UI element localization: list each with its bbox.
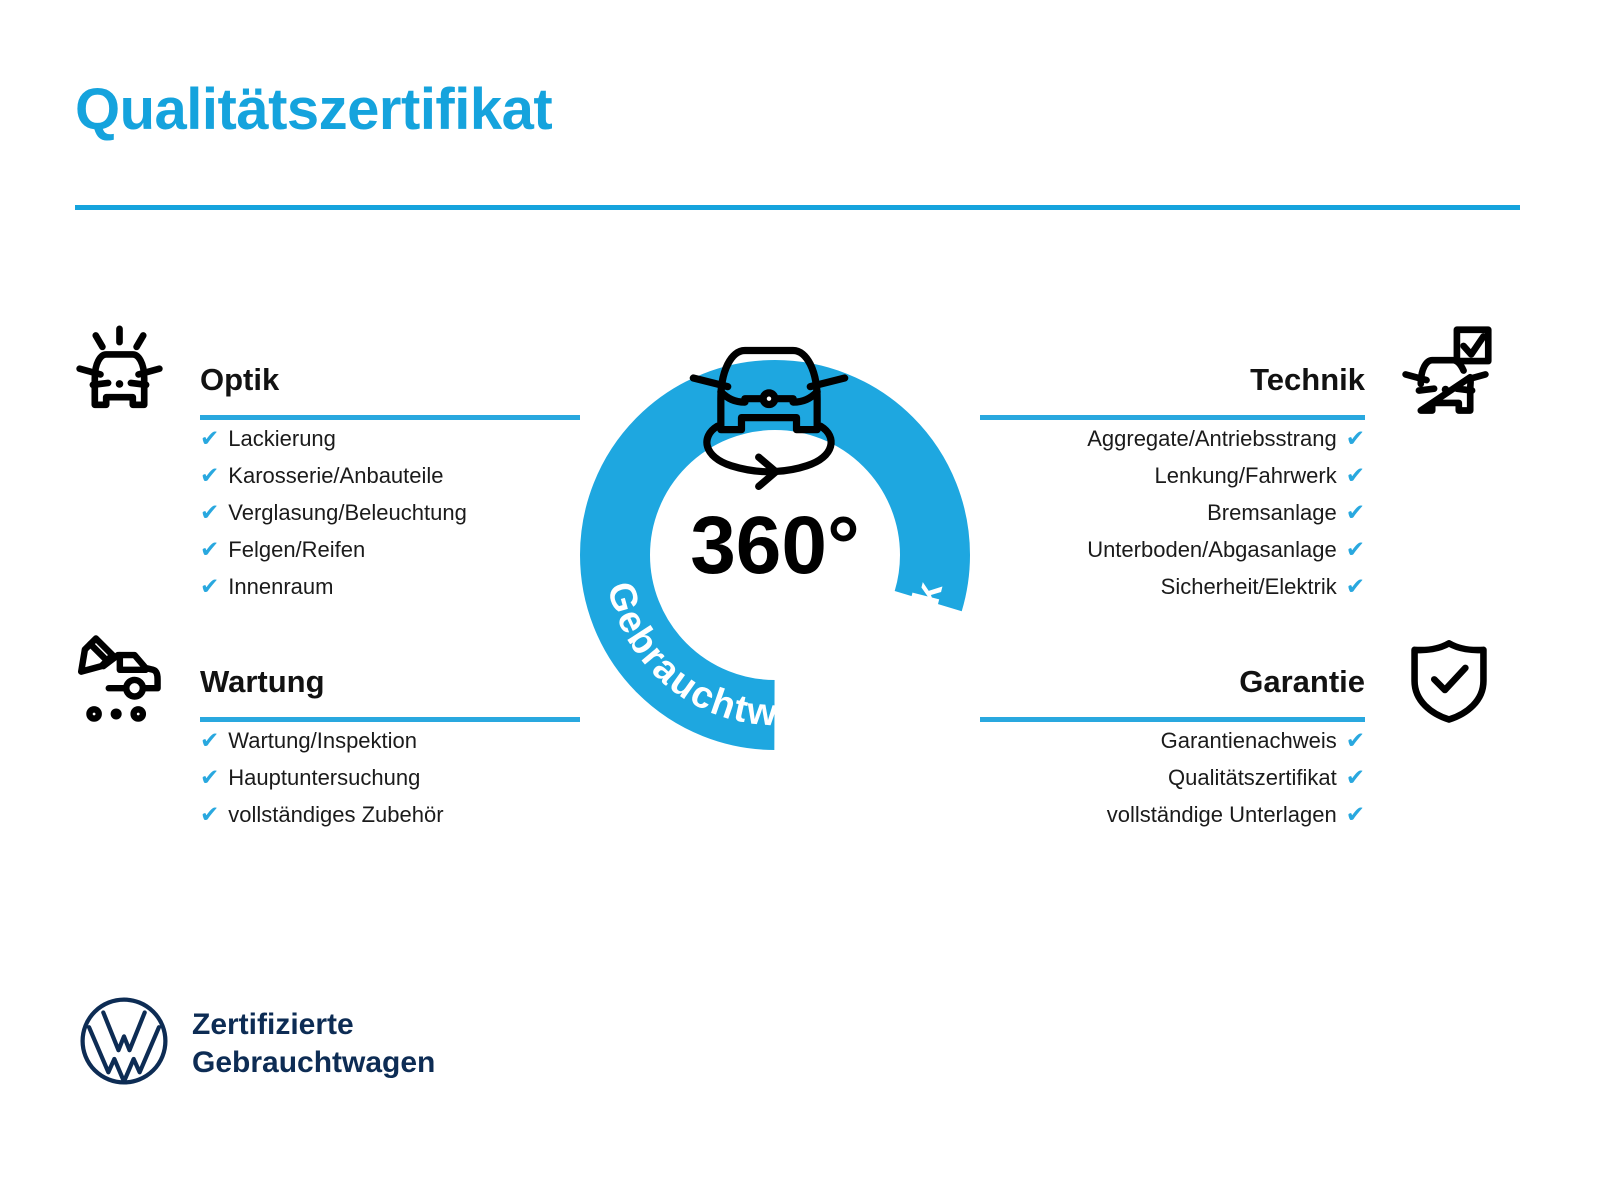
list-item-label: Innenraum: [228, 568, 333, 605]
list-item-label: vollständige Unterlagen: [1107, 796, 1337, 833]
car-shine-icon: [72, 325, 167, 425]
list-item: Aggregate/Antriebsstrang✔: [980, 420, 1365, 457]
list-item: Bremsanlage✔: [980, 494, 1365, 531]
check-icon: ✔: [200, 420, 219, 457]
check-icon: ✔: [1346, 420, 1365, 457]
list-item-label: Aggregate/Antriebsstrang: [1087, 420, 1337, 457]
list-item: Sicherheit/Elektrik✔: [980, 568, 1365, 605]
section-header: Garantie: [980, 662, 1365, 722]
list-item-label: vollständiges Zubehör: [228, 796, 443, 833]
list-item: ✔Felgen/Reifen: [200, 531, 580, 568]
list-item: ✔Wartung/Inspektion: [200, 722, 580, 759]
list-item: ✔Innenraum: [200, 568, 580, 605]
check-icon: ✔: [1346, 722, 1365, 759]
list-item: Unterboden/Abgasanlage✔: [980, 531, 1365, 568]
section-divider: [980, 717, 1365, 722]
page-title: Qualitätszertifikat: [75, 78, 552, 142]
list-item-label: Unterboden/Abgasanlage: [1087, 531, 1337, 568]
footer-brand-line1: Zertifizierte: [192, 1006, 435, 1044]
section-divider: [200, 415, 580, 420]
section-optik: Optik ✔Lackierung ✔Karosserie/Anbauteile…: [200, 360, 580, 605]
footer-brand-line2: Gebrauchtwagen: [192, 1044, 435, 1082]
checklist: ✔Wartung/Inspektion ✔Hauptuntersuchung ✔…: [200, 722, 580, 833]
list-item: vollständige Unterlagen✔: [980, 796, 1365, 833]
list-item: ✔Hauptuntersuchung: [200, 759, 580, 796]
check-icon: ✔: [200, 494, 219, 531]
list-item: Garantienachweis✔: [980, 722, 1365, 759]
section-title: Garantie: [980, 662, 1365, 702]
section-title: Optik: [200, 360, 580, 400]
section-wartung: Wartung ✔Wartung/Inspektion ✔Hauptunters…: [200, 662, 580, 833]
list-item-label: Karosserie/Anbauteile: [228, 457, 443, 494]
section-header: Wartung: [200, 662, 580, 722]
check-icon: ✔: [200, 531, 219, 568]
section-title: Technik: [980, 360, 1365, 400]
check-icon: ✔: [200, 457, 219, 494]
check-icon: ✔: [1346, 494, 1365, 531]
list-item-label: Wartung/Inspektion: [228, 722, 417, 759]
list-item: ✔Karosserie/Anbauteile: [200, 457, 580, 494]
section-technik: Technik Aggregate/Antriebsstrang✔ Lenkun…: [980, 360, 1365, 605]
check-icon: ✔: [200, 796, 219, 833]
badge-center-label: 360°: [690, 500, 860, 591]
footer-brand-lockup: Zertifizierte Gebrauchtwagen: [78, 995, 435, 1092]
badge-360-gebrauchtwagen-check: Gebrauchtwagen-Check 360°: [565, 305, 985, 750]
check-icon: ✔: [1346, 568, 1365, 605]
section-garantie: Garantie Garantienachweis✔ Qualitätszert…: [980, 662, 1365, 833]
car-checkbox-icon: [1398, 325, 1493, 425]
check-icon: ✔: [1346, 759, 1365, 796]
list-item: Qualitätszertifikat✔: [980, 759, 1365, 796]
list-item-label: Verglasung/Beleuchtung: [228, 494, 467, 531]
list-item-label: Bremsanlage: [1207, 494, 1337, 531]
list-item: ✔vollständiges Zubehör: [200, 796, 580, 833]
check-icon: ✔: [200, 568, 219, 605]
list-item-label: Sicherheit/Elektrik: [1161, 568, 1337, 605]
list-item: ✔Verglasung/Beleuchtung: [200, 494, 580, 531]
checklist: ✔Lackierung ✔Karosserie/Anbauteile ✔Verg…: [200, 420, 580, 605]
list-item-label: Qualitätszertifikat: [1168, 759, 1337, 796]
check-icon: ✔: [200, 722, 219, 759]
section-title: Wartung: [200, 662, 580, 702]
badge-svg: Gebrauchtwagen-Check 360°: [565, 305, 985, 750]
list-item-label: Hauptuntersuchung: [228, 759, 420, 796]
check-icon: ✔: [1346, 796, 1365, 833]
check-icon: ✔: [1346, 531, 1365, 568]
check-icon: ✔: [200, 759, 219, 796]
list-item-label: Garantienachweis: [1161, 722, 1337, 759]
title-divider: [75, 205, 1520, 210]
list-item: ✔Lackierung: [200, 420, 580, 457]
list-item-label: Lenkung/Fahrwerk: [1155, 457, 1337, 494]
footer-brand-text: Zertifizierte Gebrauchtwagen: [192, 1006, 435, 1082]
section-header: Optik: [200, 360, 580, 420]
check-icon: ✔: [1346, 457, 1365, 494]
checklist: Aggregate/Antriebsstrang✔ Lenkung/Fahrwe…: [980, 420, 1365, 605]
section-divider: [200, 717, 580, 722]
list-item-label: Lackierung: [228, 420, 336, 457]
section-header: Technik: [980, 360, 1365, 420]
checklist: Garantienachweis✔ Qualitätszertifikat✔ v…: [980, 722, 1365, 833]
list-item-label: Felgen/Reifen: [228, 531, 365, 568]
shield-check-icon: [1408, 638, 1490, 729]
list-item: Lenkung/Fahrwerk✔: [980, 457, 1365, 494]
section-divider: [980, 415, 1365, 420]
pencil-car-service-icon: [72, 633, 164, 730]
volkswagen-logo-icon: [78, 995, 170, 1092]
